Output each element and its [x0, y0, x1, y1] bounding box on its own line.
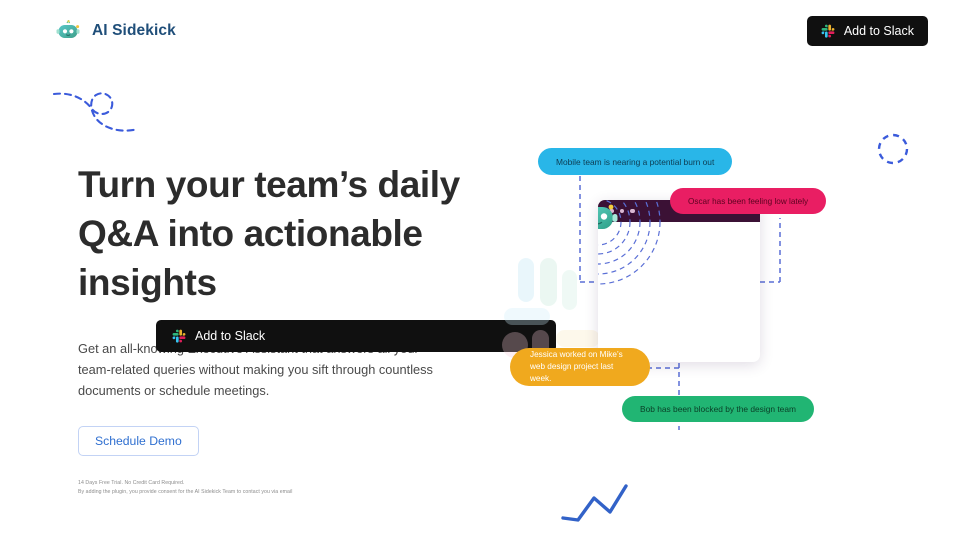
ai-sidekick-robot-mascot-icon [598, 200, 673, 289]
slack-icon [172, 329, 186, 343]
insight-bubble-burnout[interactable]: Mobile team is nearing a potential burn … [538, 148, 732, 175]
slack-icon [821, 24, 835, 38]
site-header: AI Sidekick Add to Slack [0, 0, 960, 62]
insight-bubble-bob-text: Bob has been blocked by the design team [640, 404, 796, 414]
fineprint-trial-text: 14 Days Free Trial. No Credit Card Requi… [78, 479, 478, 488]
add-to-slack-hero-label: Add to Slack [195, 329, 265, 343]
hero-section: Turn your team’s daily Q&A into actionab… [78, 160, 478, 497]
insight-bubble-oscar[interactable]: Oscar has been feeling low lately [670, 188, 826, 214]
insight-bubble-oscar-text: Oscar has been feeling low lately [688, 197, 808, 206]
add-to-slack-header-label: Add to Slack [844, 24, 914, 38]
fineprint-consent-text: By adding the plugin, you provide consen… [78, 488, 478, 497]
add-to-slack-button-header[interactable]: Add to Slack [807, 16, 928, 46]
page-title: Turn your team’s daily Q&A into actionab… [78, 160, 478, 307]
hero-illustration: Mobile team is nearing a potential burn … [480, 130, 900, 450]
hero-fineprint: 14 Days Free Trial. No Credit Card Requi… [78, 479, 478, 497]
app-window-card [598, 200, 760, 362]
brand-name-text: AI Sidekick [92, 22, 176, 40]
ai-sidekick-robot-logo-icon [56, 20, 84, 42]
hero-cta-row: Add to Slack Schedule Demo [78, 426, 478, 456]
blue-trend-line-decoration-icon [560, 482, 630, 533]
brand-logo[interactable]: AI Sidekick [56, 20, 176, 42]
window-body [598, 222, 760, 362]
insight-bubble-jessica[interactable]: Jessica worked on Mike’s web design proj… [510, 348, 650, 386]
insight-bubble-bob[interactable]: Bob has been blocked by the design team [622, 396, 814, 422]
landing-page: AI Sidekick Add to Slack [0, 0, 960, 540]
dashed-swirl-decoration-icon [50, 82, 146, 149]
insight-bubble-jessica-text: Jessica worked on Mike’s web design proj… [530, 349, 630, 385]
schedule-demo-button[interactable]: Schedule Demo [78, 426, 199, 456]
schedule-demo-label: Schedule Demo [95, 434, 182, 448]
insight-bubble-burnout-text: Mobile team is nearing a potential burn … [556, 157, 714, 167]
